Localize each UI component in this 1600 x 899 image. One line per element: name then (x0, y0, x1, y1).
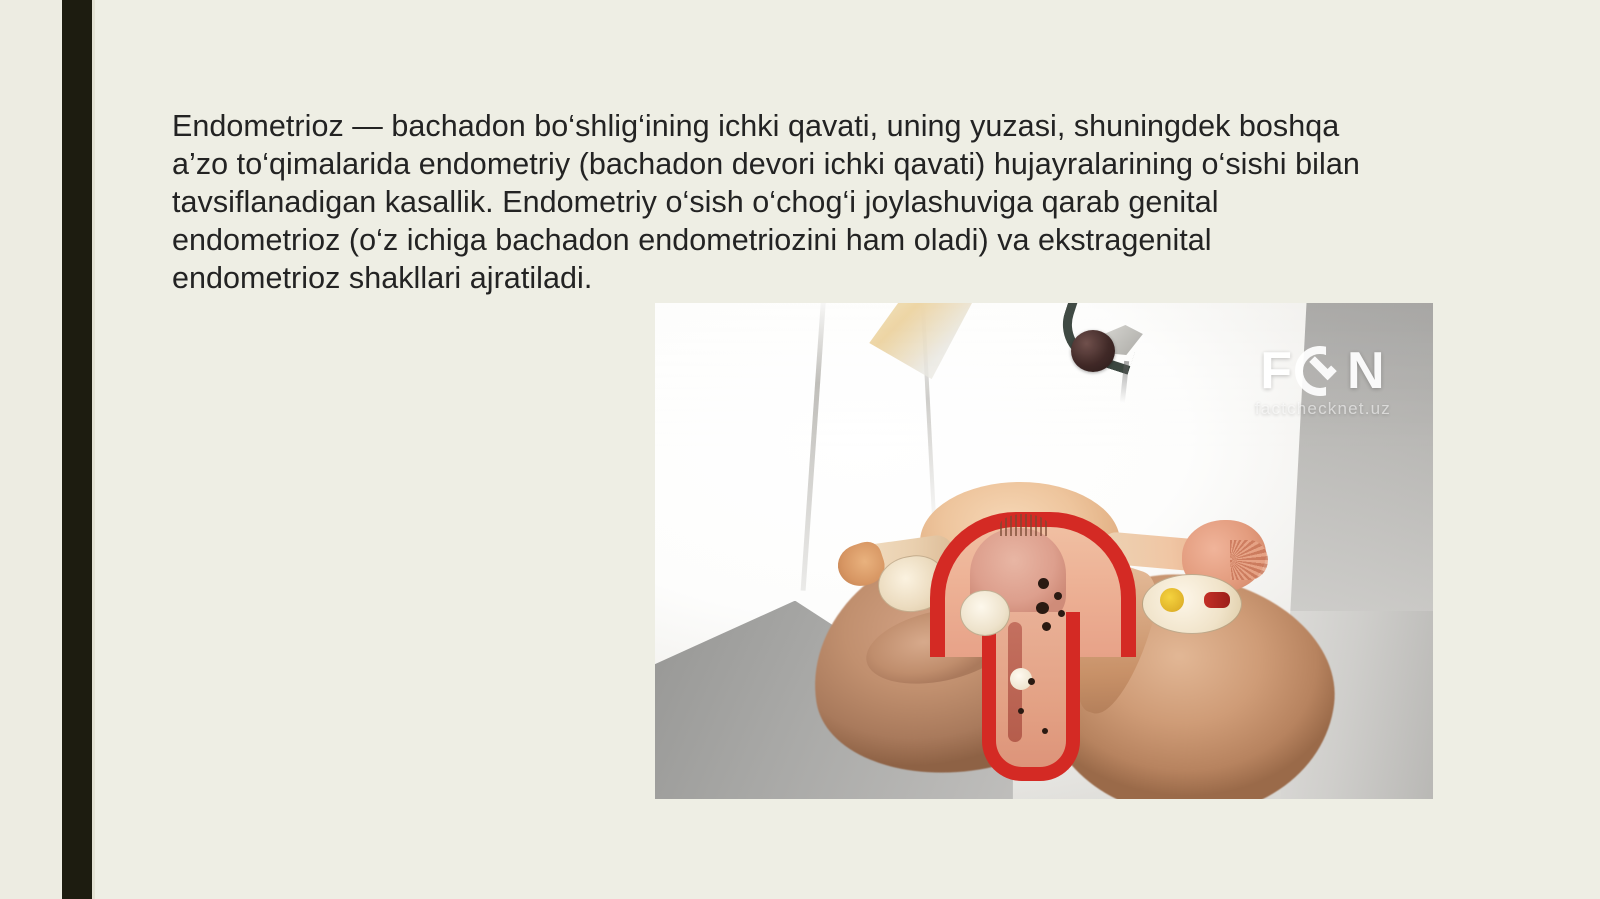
fimbriae-right-fringe (1230, 540, 1268, 580)
left-accent-bar (62, 0, 92, 899)
watermark-logo: F N (1255, 345, 1391, 397)
cervix-and-vaginal-canal (982, 612, 1080, 781)
endometriosis-lesion (1042, 622, 1051, 631)
presentation-slide: Endometrioz — bachadon bo‘shlig‘ining ic… (0, 0, 1600, 899)
watermark: F N factchecknet.uz (1255, 345, 1391, 419)
endometriosis-lesion (1018, 708, 1024, 714)
slide-image: F N factchecknet.uz (655, 303, 1433, 799)
corpus-luteum (1204, 592, 1230, 608)
ovarian-cyst (960, 590, 1010, 636)
stethoscope-chestpiece-icon (1071, 330, 1115, 372)
check-circle-icon (1295, 346, 1345, 396)
endometriosis-lesion (1038, 578, 1049, 589)
slide-body-text: Endometrioz — bachadon bo‘shlig‘ining ic… (172, 107, 1387, 297)
watermark-logo-letter-n: N (1347, 345, 1386, 397)
endometriosis-lesion (1028, 678, 1035, 685)
ovarian-follicle (1160, 588, 1184, 612)
endometriosis-lesion (1042, 728, 1048, 734)
endometriosis-lesion (1058, 610, 1065, 617)
endometrial-fringe (1000, 514, 1048, 536)
watermark-logo-letter-f: F (1260, 345, 1293, 397)
endometriosis-lesion (1054, 592, 1062, 600)
uterus-anatomical-model (842, 482, 1272, 772)
left-margin-strip (0, 0, 61, 899)
watermark-subtitle: factchecknet.uz (1255, 399, 1391, 419)
endometriosis-lesion (1036, 602, 1049, 614)
